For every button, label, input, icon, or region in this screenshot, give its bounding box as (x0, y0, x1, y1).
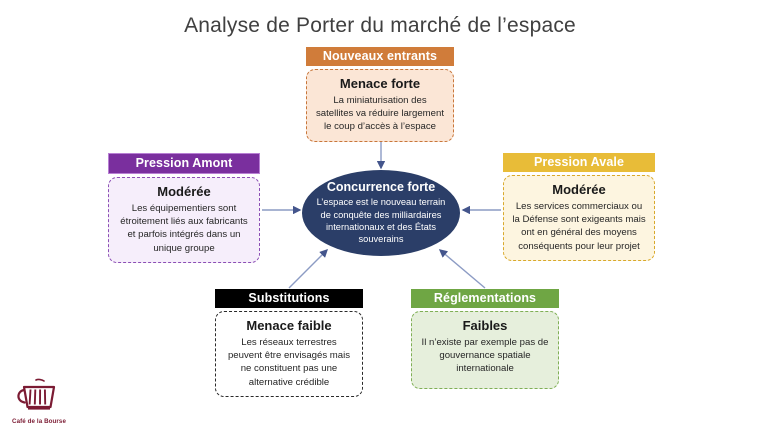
force-buyers[interactable]: Pression Avale Modérée Les services comm… (503, 153, 655, 261)
force-substitutes[interactable]: Substitutions Menace faible Les réseaux … (215, 289, 363, 397)
force-suppliers-header: Pression Amont (108, 153, 260, 174)
force-suppliers-body: Modérée Les équipementiers sont étroitem… (108, 177, 260, 263)
center-competition-oval[interactable]: Concurrence forte L’espace est le nouvea… (302, 170, 460, 256)
coffee-cup-icon (8, 378, 70, 412)
force-buyers-description: Les services commerciaux ou la Défense s… (511, 200, 647, 253)
force-suppliers-description: Les équipementiers sont étroitement liés… (116, 202, 252, 255)
force-new-entrants-verdict: Menace forte (314, 76, 446, 92)
force-substitutes-body: Menace faible Les réseaux terrestres peu… (215, 311, 363, 397)
force-suppliers-verdict: Modérée (116, 184, 252, 200)
force-substitutes-verdict: Menace faible (223, 318, 355, 334)
force-new-entrants-description: La miniaturisation des satellites va réd… (314, 94, 446, 134)
center-description: L’espace est le nouveau terrain de conqu… (312, 196, 450, 245)
force-regulations-body: Faibles Il n’existe par exemple pas de g… (411, 311, 559, 389)
force-regulations[interactable]: Réglementations Faibles Il n’existe par … (411, 289, 559, 389)
force-buyers-body: Modérée Les services commerciaux ou la D… (503, 175, 655, 261)
force-substitutes-header: Substitutions (215, 289, 363, 308)
slide-canvas: Analyse de Porter du marché de l’espace … (0, 0, 760, 428)
force-suppliers[interactable]: Pression Amont Modérée Les équipementier… (108, 153, 260, 263)
connector-substitutes (289, 250, 327, 288)
force-regulations-description: Il n’existe par exemple pas de gouvernan… (419, 336, 551, 376)
force-substitutes-description: Les réseaux terrestres peuvent être envi… (223, 336, 355, 389)
force-new-entrants-header: Nouveaux entrants (306, 47, 454, 66)
force-regulations-verdict: Faibles (419, 318, 551, 334)
force-buyers-verdict: Modérée (511, 182, 647, 198)
force-new-entrants[interactable]: Nouveaux entrants Menace forte La miniat… (306, 47, 454, 142)
logo[interactable]: Café de la Bourse (8, 378, 70, 422)
center-title: Concurrence forte (327, 180, 435, 195)
force-buyers-header: Pression Avale (503, 153, 655, 172)
page-title: Analyse de Porter du marché de l’espace (0, 14, 760, 38)
force-new-entrants-body: Menace forte La miniaturisation des sate… (306, 69, 454, 141)
force-regulations-header: Réglementations (411, 289, 559, 308)
connector-regulations (440, 250, 485, 288)
logo-caption: Café de la Bourse (8, 418, 70, 425)
